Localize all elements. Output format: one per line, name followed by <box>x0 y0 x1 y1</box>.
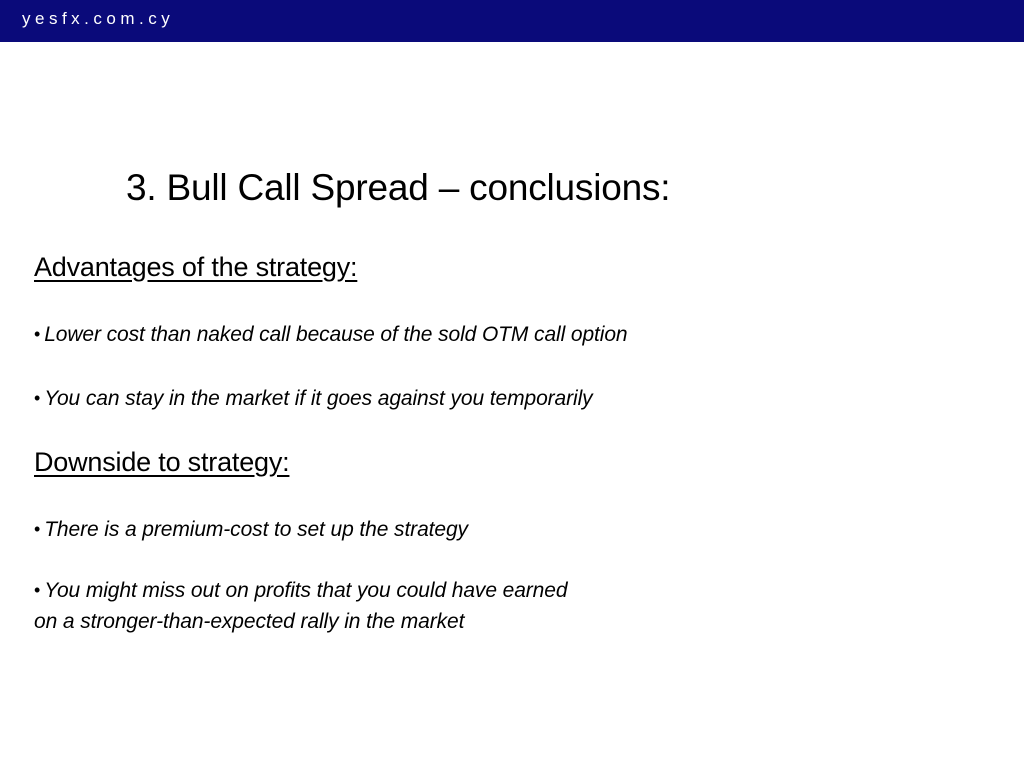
bullet-dot-icon: • <box>34 324 40 344</box>
list-item: •There is a premium-cost to set up the s… <box>34 514 468 545</box>
list-item: •Lower cost than naked call because of t… <box>34 319 628 350</box>
section-heading-downside: Downside to strategy: <box>34 447 289 478</box>
list-item-text-continued: on a stronger-than-expected rally in the… <box>34 606 567 637</box>
list-item-text: There is a premium-cost to set up the st… <box>44 518 468 541</box>
list-item-text: You can stay in the market if it goes ag… <box>44 387 592 410</box>
site-banner-label: yesfx.com.cy <box>22 9 174 29</box>
list-item-text: You might miss out on profits that you c… <box>44 579 567 602</box>
bullet-dot-icon: • <box>34 580 40 600</box>
section-heading-advantages: Advantages of the strategy: <box>34 252 357 283</box>
list-item: •You can stay in the market if it goes a… <box>34 383 593 414</box>
page-title: 3. Bull Call Spread – conclusions: <box>126 167 670 209</box>
list-item: •You might miss out on profits that you … <box>34 575 567 637</box>
bullet-dot-icon: • <box>34 519 40 539</box>
bullet-dot-icon: • <box>34 388 40 408</box>
slide-content-area: 3. Bull Call Spread – conclusions: Advan… <box>0 42 1024 768</box>
list-item-text: Lower cost than naked call because of th… <box>44 323 627 346</box>
site-banner: yesfx.com.cy <box>0 0 1024 42</box>
